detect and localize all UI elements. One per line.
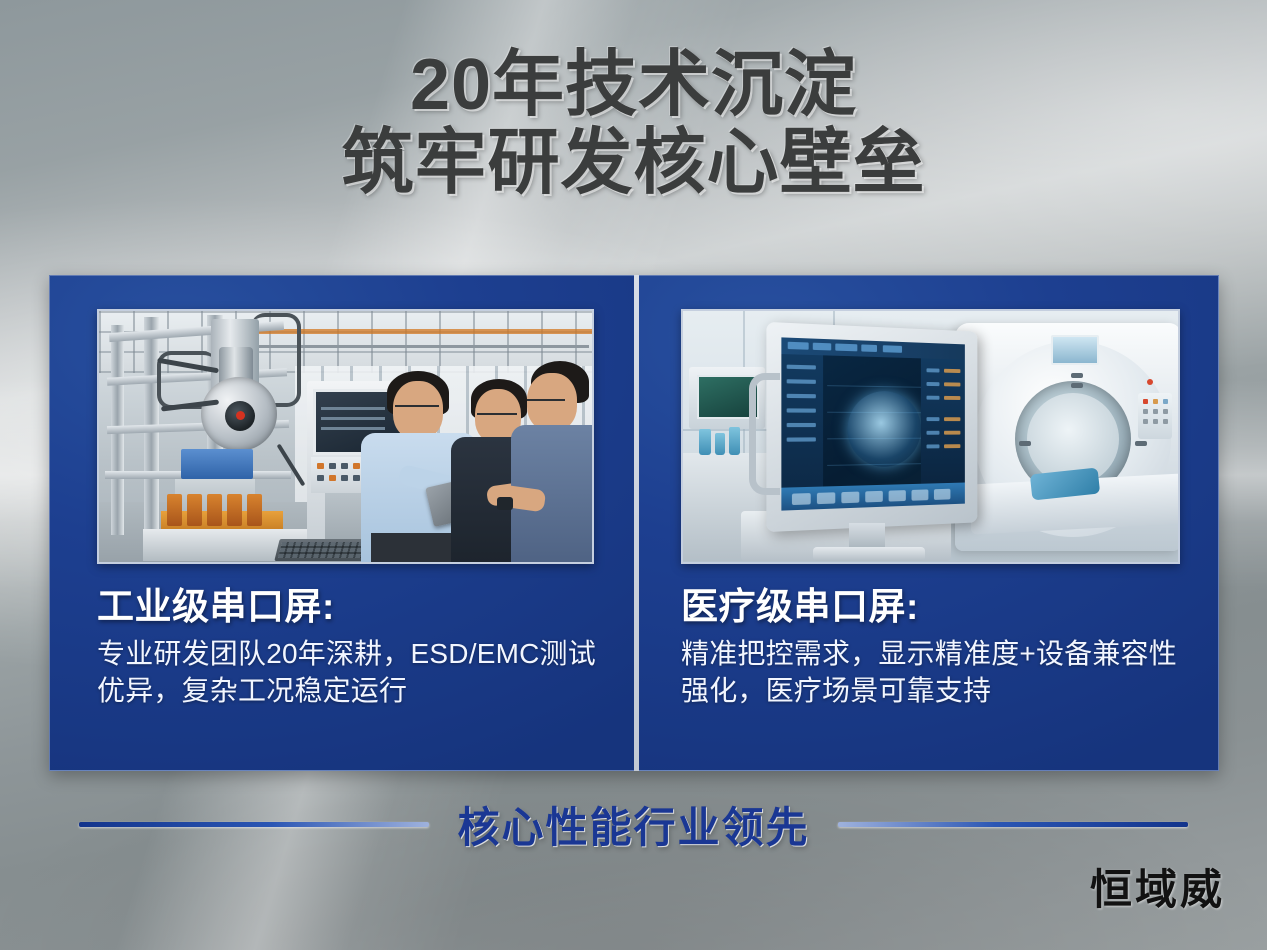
toolbar-tab [861,344,877,352]
feature-panels: 工业级串口屏: 专业研发团队20年深耕，ESD/EMC测试优异，复杂工况稳定运行 [49,275,1219,771]
copper-coil [227,494,242,526]
bottom-bar-button[interactable] [792,493,811,505]
right-panel-row [944,396,960,400]
tagline-rule-left [79,822,429,827]
bottle [699,429,711,455]
cnc-button [353,463,360,469]
keypad-key [1163,409,1168,414]
keypad-key [1153,419,1158,424]
panel-description-industrial: 专业研发团队20年深耕，ESD/EMC测试优异，复杂工况稳定运行 [97,635,602,709]
keypad-key [1153,399,1158,404]
slide-canvas: 20年技术沉淀 筑牢研发核心壁垒 [0,0,1267,950]
blue-machine-block [181,449,253,479]
toolbar-tab [788,342,809,350]
medical-ct-photo [681,309,1180,564]
keypad-key [1153,409,1158,414]
toolbar-tab [883,345,902,353]
bottom-bar-button[interactable] [934,489,950,500]
wristwatch [497,497,513,510]
right-panel-row [944,369,960,373]
bottom-bar-button[interactable] [817,492,835,504]
sidebar-row [787,365,816,370]
right-panel-row [927,382,940,386]
monitor-base [813,547,925,561]
cnc-button [341,475,348,481]
cnc-display-line [321,407,385,410]
face [393,381,443,439]
sidebar-row [787,379,816,384]
sidebar-row [787,394,816,399]
panel-title-medical: 医疗级串口屏: [681,585,1188,629]
right-panel-row [944,431,960,435]
sidebar-row [787,437,816,441]
ct-status-display [1051,335,1099,365]
ct-slot [1071,373,1083,378]
monitor-handle [749,373,780,495]
glasses [527,399,565,401]
keypad-key [1143,409,1148,414]
copper-coil [187,494,202,526]
footer-tagline: 核心性能行业领先 [457,794,809,855]
cnc-display-line [321,427,385,430]
glasses [477,413,517,415]
bottle [729,427,740,455]
headline-line-2: 筑牢研发核心壁垒 [0,124,1267,202]
right-panel-row [927,368,940,372]
right-panel-row [944,382,960,386]
toolbar-tab [813,343,831,351]
panel-description-medical: 精准把控需求，显示精准度+设备兼容性强化，医疗场景可靠支持 [681,635,1188,709]
glasses [395,405,439,407]
cnc-button [329,463,336,469]
ct-indicator-light [1147,379,1153,385]
keypad-key [1143,419,1148,424]
copper-coil [247,494,262,526]
toolbar-tab [835,343,857,351]
panel-industrial[interactable]: 工业级串口屏: 专业研发团队20年深耕，ESD/EMC测试优异，复杂工况稳定运行 [49,275,634,771]
right-panel-row [927,431,940,435]
ct-slot [1071,383,1083,388]
right-panel-row [927,396,940,400]
face [527,373,577,431]
panel-divider [634,275,639,771]
industrial-factory-photo [97,309,594,564]
tagline-rule-right [838,822,1188,827]
factory-scene [99,311,592,562]
workstation-monitor-screen [781,337,965,510]
app-right-panel [921,358,965,485]
cnc-button [317,463,324,469]
sidebar-row [787,408,816,412]
footer-tagline-row: 核心性能行业领先 [0,795,1267,853]
brand-name: 恒域威 [1090,856,1225,917]
right-panel-row [944,444,960,448]
ct-slot [1135,441,1147,446]
bottom-bar-button[interactable] [865,491,883,503]
medical-room-scene [683,311,1178,562]
bottom-bar-button[interactable] [841,492,859,504]
bottom-bar-button[interactable] [889,490,906,501]
cnc-button [341,463,348,469]
headline-block: 20年技术沉淀 筑牢研发核心壁垒 [0,46,1267,202]
headline-line-1: 20年技术沉淀 [0,46,1267,124]
right-panel-row [927,417,940,421]
panel-title-industrial: 工业级串口屏: [97,585,604,629]
bottle [715,433,725,455]
copper-coil [167,494,182,526]
ct-slot [1019,441,1031,446]
cnc-button [353,475,360,481]
keypad-key [1143,399,1148,404]
keypad-key [1163,419,1168,424]
panel-medical[interactable]: 医疗级串口屏: 精准把控需求，显示精准度+设备兼容性强化，医疗场景可靠支持 [634,275,1219,771]
keypad-key [1163,399,1168,404]
cnc-display-line [321,417,385,420]
indicator-light [236,411,245,420]
right-panel-row [944,417,960,421]
cnc-button [329,475,336,481]
bottom-bar-button[interactable] [912,489,929,500]
sidebar-row [787,423,816,427]
copper-coil [207,494,222,526]
monitor-stand [849,523,885,549]
right-panel-row [927,444,940,448]
cnc-button [317,475,324,481]
